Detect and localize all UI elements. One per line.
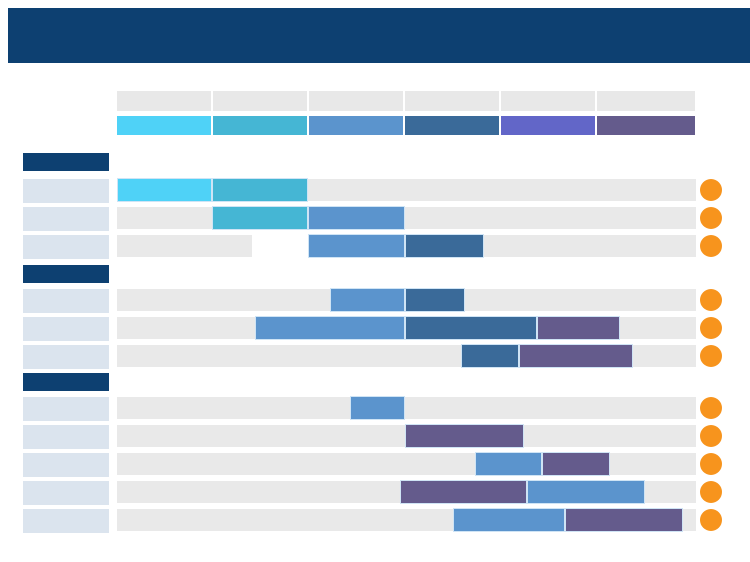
task-label-1-2[interactable]: [22, 206, 110, 232]
milestone-marker[interactable]: [700, 207, 722, 229]
gantt-bar[interactable]: [542, 452, 610, 476]
milestone-marker[interactable]: [700, 481, 722, 503]
task-label-1-1[interactable]: [22, 178, 110, 204]
gantt-bar[interactable]: [453, 508, 565, 532]
gantt-bar[interactable]: [475, 452, 542, 476]
gantt-bar[interactable]: [117, 178, 212, 202]
gantt-slide: [0, 0, 750, 562]
milestone-marker[interactable]: [700, 397, 722, 419]
task-label-2-3[interactable]: [22, 344, 110, 370]
gantt-bar[interactable]: [527, 480, 645, 504]
task-label-3-4[interactable]: [22, 480, 110, 506]
milestone-marker[interactable]: [700, 235, 722, 257]
gantt-bar[interactable]: [405, 288, 465, 312]
gantt-bar[interactable]: [212, 206, 308, 230]
gantt-bar[interactable]: [565, 508, 683, 532]
milestone-marker[interactable]: [700, 179, 722, 201]
task-label-3-1[interactable]: [22, 396, 110, 422]
gantt-bar[interactable]: [308, 206, 405, 230]
gantt-bar[interactable]: [255, 316, 405, 340]
gantt-bar[interactable]: [461, 344, 519, 368]
milestone-marker[interactable]: [700, 425, 722, 447]
task-label-3-5[interactable]: [22, 508, 110, 534]
gantt-bar[interactable]: [405, 234, 484, 258]
milestone-marker[interactable]: [700, 453, 722, 475]
gantt-rows: [0, 0, 750, 562]
task-label-3-2[interactable]: [22, 424, 110, 450]
group-header-3[interactable]: [22, 372, 110, 392]
gantt-bar[interactable]: [519, 344, 633, 368]
gantt-bar[interactable]: [308, 234, 405, 258]
gantt-bar[interactable]: [330, 288, 405, 312]
task-label-3-3[interactable]: [22, 452, 110, 478]
task-track: [117, 397, 696, 419]
milestone-marker[interactable]: [700, 509, 722, 531]
task-track: [117, 235, 252, 257]
task-label-1-3[interactable]: [22, 234, 110, 260]
gantt-bar[interactable]: [405, 316, 537, 340]
milestone-marker[interactable]: [700, 289, 722, 311]
group-header-2[interactable]: [22, 264, 110, 284]
gantt-bar[interactable]: [400, 480, 527, 504]
gantt-bar[interactable]: [212, 178, 308, 202]
task-label-2-2[interactable]: [22, 316, 110, 342]
gantt-bar[interactable]: [537, 316, 620, 340]
group-header-1[interactable]: [22, 152, 110, 172]
task-track: [117, 207, 696, 229]
task-label-2-1[interactable]: [22, 288, 110, 314]
milestone-marker[interactable]: [700, 345, 722, 367]
gantt-bar[interactable]: [405, 424, 524, 448]
milestone-marker[interactable]: [700, 317, 722, 339]
gantt-bar[interactable]: [350, 396, 405, 420]
